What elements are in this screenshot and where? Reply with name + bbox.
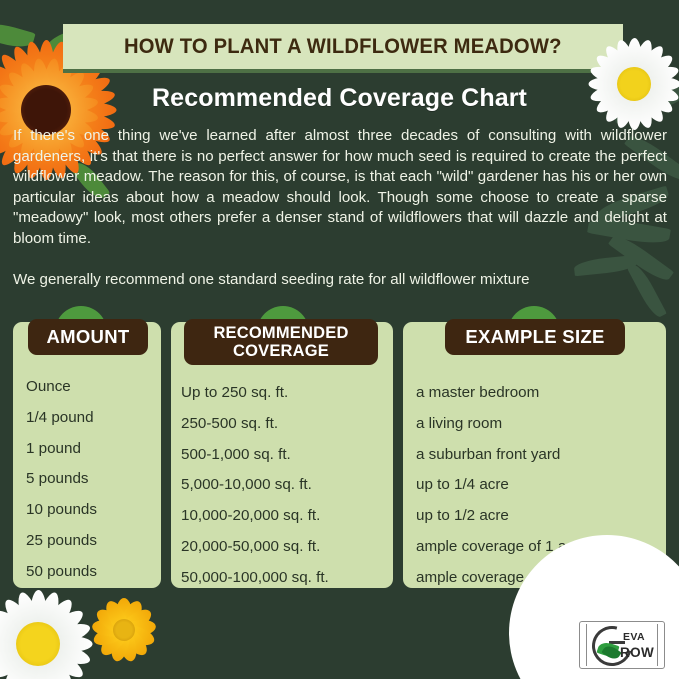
flower-petal [109, 628, 132, 663]
flower-petal [123, 618, 157, 638]
flower-petal [38, 636, 92, 653]
logo-bar-right [657, 624, 658, 666]
body-paragraph-2: We generally recommend one standard seed… [13, 270, 667, 291]
flower-petal [116, 628, 139, 663]
table-row: Up to 250 sq. ft. [171, 378, 393, 409]
flower-petal [30, 644, 47, 679]
table-row: a suburban front yard [403, 440, 666, 471]
table-row: a master bedroom [403, 378, 666, 409]
table-row: Ounce [13, 372, 161, 403]
eva-grow-logo[interactable]: EVA ROW [579, 621, 665, 669]
flower-petal [118, 625, 151, 660]
table-row: up to 1/2 acre [403, 501, 666, 532]
flower-petal [116, 598, 132, 630]
table-row: 1/4 pound [13, 403, 161, 434]
table-row: 25 pounds [13, 526, 161, 557]
flower-petal [13, 641, 46, 679]
flower-petal [35, 619, 92, 652]
table-row: 20,000-50,000 sq. ft. [171, 532, 393, 563]
flower-petal [102, 598, 131, 634]
flower-petal [0, 637, 43, 679]
table-row: 10 pounds [13, 495, 161, 526]
infographic-canvas: HOW TO PLANT A WILDFLOWER MEADOW? Recomm… [0, 0, 679, 679]
flower-petal [0, 595, 45, 649]
flower-petal [0, 619, 41, 652]
table-row: 500-1,000 sq. ft. [171, 440, 393, 471]
body-paragraph-1: If there's one thing we've learned after… [13, 126, 667, 250]
flower-petal [13, 590, 46, 647]
flower-petal [121, 623, 157, 649]
flower-petal [119, 605, 154, 636]
table-column-amount: AMOUNT Ounce 1/4 pound 1 pound 5 pounds … [13, 306, 161, 588]
table-row: 50 pounds [13, 557, 161, 588]
body-text-block: If there's one thing we've learned after… [13, 126, 667, 290]
flower-petal [31, 595, 76, 649]
table-row: 5 pounds [13, 464, 161, 495]
flower-petal [33, 605, 87, 650]
table-row: 1 pound [13, 434, 161, 465]
flower-petals [0, 578, 104, 679]
page-title-band: HOW TO PLANT A WILDFLOWER MEADOW? [63, 24, 623, 69]
flower-petal [35, 636, 92, 669]
table-row: 10,000-20,000 sq. ft. [171, 501, 393, 532]
table-row: 50,000-100,000 sq. ft. [171, 563, 393, 594]
flower-petal [91, 623, 127, 649]
logo-text-top: EVA [623, 631, 645, 643]
flower-petal [30, 590, 63, 647]
flower-petals [82, 588, 166, 672]
flower-petal [31, 639, 76, 679]
column-rows-recommended-coverage: Up to 250 sq. ft. 250-500 sq. ft. 500-1,… [171, 306, 393, 588]
table-row: 5,000-10,000 sq. ft. [171, 470, 393, 501]
flower-center [16, 622, 60, 666]
subtitle-row: Recommended Coverage Chart [0, 78, 679, 118]
page-title: HOW TO PLANT A WILDFLOWER MEADOW? [124, 34, 562, 59]
coreopsis-flower-decoration [82, 588, 166, 672]
flower-petal [30, 590, 47, 644]
flower-petal [117, 598, 146, 634]
leaf-icon [0, 19, 36, 52]
title-divider [63, 69, 623, 73]
table-column-recommended-coverage: RECOMMENDED COVERAGE Up to 250 sq. ft. 2… [171, 306, 393, 588]
flower-petal [97, 625, 130, 660]
column-rows-amount: Ounce 1/4 pound 1 pound 5 pounds 10 poun… [13, 306, 161, 588]
logo-bar-left [586, 624, 587, 666]
flower-petal [30, 641, 63, 679]
daisy-flower-decoration-bottom [0, 578, 104, 679]
table-row: 250-500 sq. ft. [171, 409, 393, 440]
flower-petal [0, 605, 43, 650]
flower-petal [0, 636, 38, 653]
subtitle: Recommended Coverage Chart [152, 84, 527, 113]
flower-petal [0, 636, 41, 669]
flower-petal [93, 605, 128, 636]
logo-text-bottom: ROW [620, 645, 654, 660]
flower-petal [0, 639, 45, 679]
table-row: a living room [403, 409, 666, 440]
flower-center [113, 619, 135, 641]
table-row: up to 1/4 acre [403, 470, 666, 501]
flower-petal [33, 637, 87, 679]
flower-petal [91, 618, 125, 638]
